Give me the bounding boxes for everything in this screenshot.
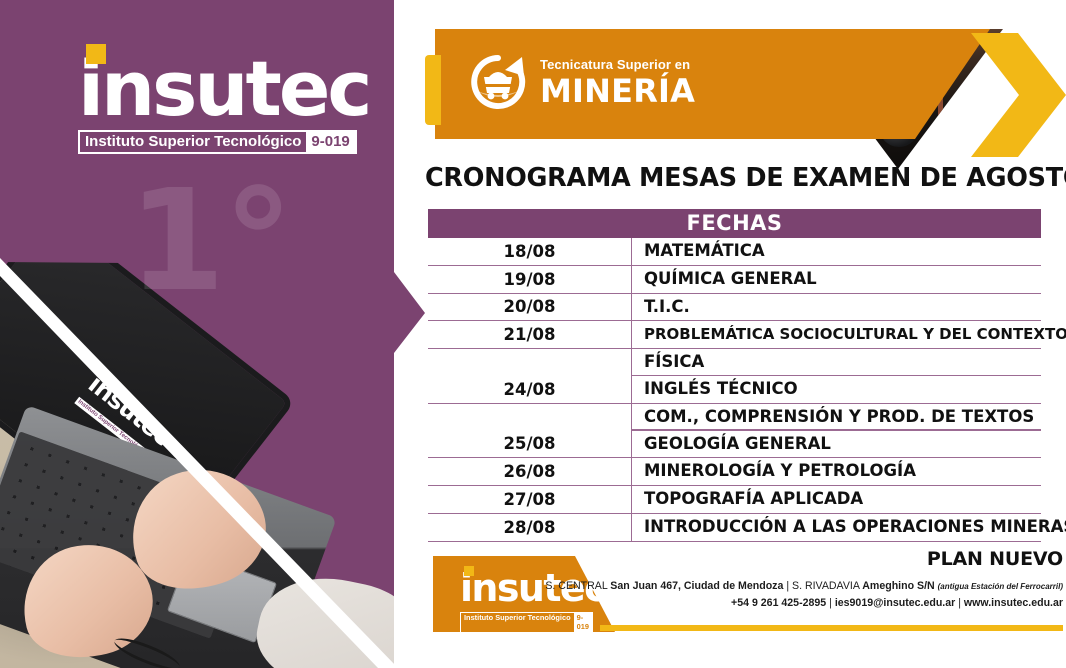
logo-subtitle: Instituto Superior Tecnológico — [80, 132, 306, 152]
brand-logo: insutec Instituto Superior Tecnológico 9… — [78, 52, 328, 154]
table-cell-date: 24/08 — [428, 380, 631, 399]
schedule-table: FECHAS 18/08MATEMÁTICA19/08QUÍMICA GENER… — [428, 209, 1041, 542]
banner-program-name: MINERÍA — [540, 73, 695, 109]
table-cell-subject: T.I.C. — [631, 294, 1041, 321]
mining-cart-recycle-icon — [467, 51, 529, 113]
table-cell-subject: TOPOGRAFÍA APLICADA — [631, 486, 1041, 513]
address-rivadavia: Ameghino S/N — [862, 580, 937, 592]
logo-wordmark: insutec — [78, 52, 328, 126]
footer-logo-code: 9-019 — [574, 613, 592, 632]
table-row: 20/08T.I.C. — [428, 294, 1041, 322]
footer-logo-dot-icon — [464, 566, 474, 576]
contact-block: S. CENTRAL San Juan 467, Ciudad de Mendo… — [545, 578, 1063, 612]
logo-subline: Instituto Superior Tecnológico 9-019 — [78, 130, 357, 154]
table-cell-subject: GEOLOGÍA GENERAL — [631, 431, 1041, 458]
left-panel: insutec Instituto Superior Tecnológico 9… — [0, 0, 425, 668]
table-cell-subject: FÍSICA — [631, 349, 1041, 376]
table-cell-subject: COM., COMPRENSIÓN Y PROD. DE TEXTOS — [631, 404, 1041, 431]
year-watermark: 1° — [128, 172, 291, 312]
footer: insutec Instituto Superior Tecnológico 9… — [425, 556, 1066, 652]
website-url[interactable]: www.insutec.edu.ar — [964, 597, 1063, 609]
contact-separator-2: | — [955, 597, 964, 609]
table-cell-date: 26/08 — [428, 462, 631, 481]
address-prefix-rivadavia: S. RIVADAVIA — [792, 580, 862, 592]
logo-code: 9-019 — [306, 132, 354, 152]
table-cell-subject: PROBLEMÁTICA SOCIOCULTURAL Y DEL CONTEXT… — [631, 321, 1066, 348]
footer-yellow-bar — [600, 625, 1063, 631]
table-row: 24/08INGLÉS TÉCNICO — [428, 376, 1041, 404]
address-separator-1: | — [783, 580, 792, 592]
logo-dot-icon — [86, 44, 106, 64]
contact-address-line: S. CENTRAL San Juan 467, Ciudad de Mendo… — [545, 578, 1063, 595]
program-banner: Tecnicatura Superior en MINERÍA — [425, 29, 1066, 139]
table-cell-date: 27/08 — [428, 490, 631, 509]
contact-separator-1: | — [826, 597, 835, 609]
table-cell-subject: INTRODUCCIÓN A LAS OPERACIONES MINERAS — [631, 514, 1066, 541]
table-row: 27/08TOPOGRAFÍA APLICADA — [428, 486, 1041, 514]
table-cell-subject: MATEMÁTICA — [631, 238, 1041, 265]
table-cell-subject: INGLÉS TÉCNICO — [631, 376, 1041, 403]
contact-details-line: +54 9 261 425-2895 | ies9019@insutec.edu… — [545, 595, 1063, 612]
table-header-fechas: FECHAS — [428, 209, 1041, 238]
address-prefix-central: S. CENTRAL — [545, 580, 610, 592]
table-row: 18/08MATEMÁTICA — [428, 238, 1041, 266]
table-cell-date: 28/08 — [428, 518, 631, 537]
table-cell-subject: QUÍMICA GENERAL — [631, 266, 1041, 293]
banner-text: Tecnicatura Superior en MINERÍA — [540, 57, 695, 109]
table-cell-date: 25/08 — [428, 434, 631, 453]
banner-yellow-tab — [425, 55, 441, 125]
phone-number[interactable]: +54 9 261 425-2895 — [731, 597, 826, 609]
address-note: (antigua Estación del Ferrocarril) — [938, 582, 1063, 591]
table-body: 18/08MATEMÁTICA19/08QUÍMICA GENERAL20/08… — [428, 238, 1041, 542]
table-cell-date: 20/08 — [428, 297, 631, 316]
page-title: CRONOGRAMA MESAS DE EXAMEN DE AGOSTO 202… — [425, 163, 1045, 193]
table-cell-date: 21/08 — [428, 325, 631, 344]
right-content: Tecnicatura Superior en MINERÍA CRONOGRA… — [425, 0, 1066, 668]
footer-logo-subtitle: Instituto Superior Tecnológico — [461, 613, 574, 632]
table-row: 26/08MINEROLOGÍA Y PETROLOGÍA — [428, 458, 1041, 486]
table-row: COM., COMPRENSIÓN Y PROD. DE TEXTOS — [428, 404, 1041, 431]
table-cell-subject: MINEROLOGÍA Y PETROLOGÍA — [631, 458, 1041, 485]
address-central: San Juan 467, Ciudad de Mendoza — [610, 580, 783, 592]
table-cell-date: 19/08 — [428, 270, 631, 289]
table-cell-date: 18/08 — [428, 242, 631, 261]
banner-kicker: Tecnicatura Superior en — [540, 57, 695, 73]
email-address[interactable]: ies9019@insutec.edu.ar — [835, 597, 955, 609]
table-row: 25/08GEOLOGÍA GENERAL — [428, 431, 1041, 459]
footer-logo-subline: Instituto Superior Tecnológico 9-019 — [460, 612, 593, 633]
table-row: 28/08INTRODUCCIÓN A LAS OPERACIONES MINE… — [428, 514, 1041, 542]
table-row: 21/08PROBLEMÁTICA SOCIOCULTURAL Y DEL CO… — [428, 321, 1041, 349]
table-row: FÍSICA — [428, 349, 1041, 376]
table-row: 19/08QUÍMICA GENERAL — [428, 266, 1041, 294]
